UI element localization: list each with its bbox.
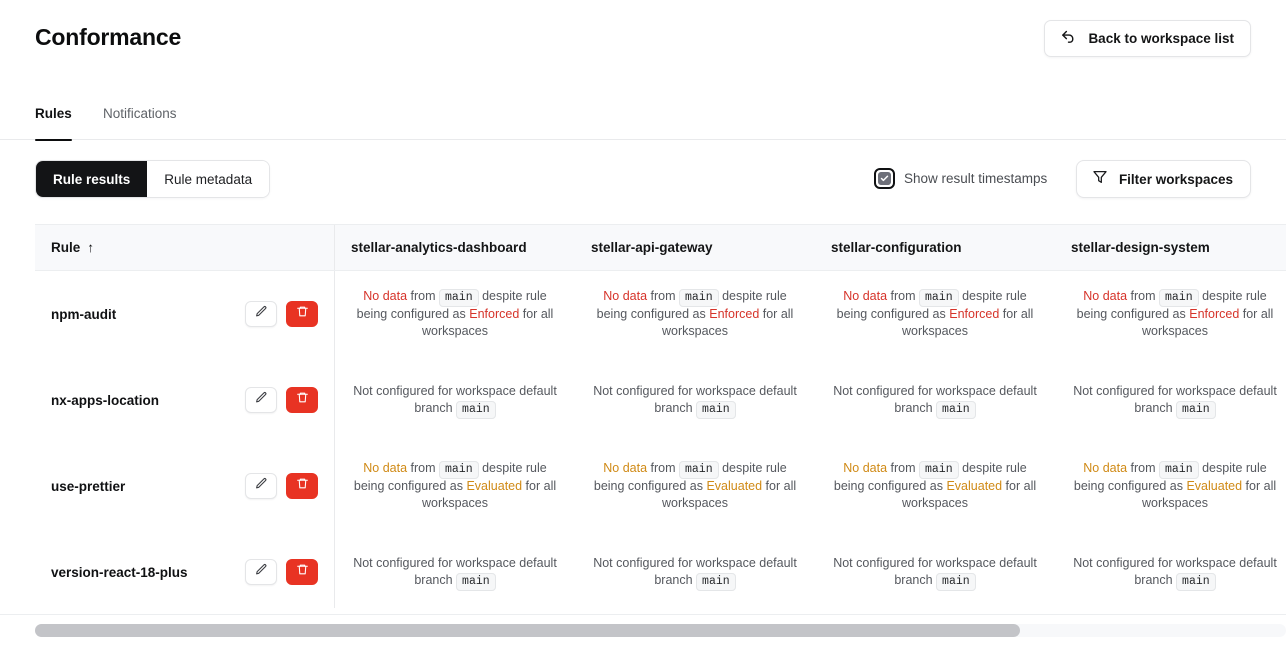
- rule-result-cell: Not configured for workspace default bra…: [575, 357, 815, 443]
- pencil-icon: [255, 305, 268, 323]
- segment-rule-metadata[interactable]: Rule metadata: [147, 161, 269, 197]
- rule-name-cell: npm-audit: [35, 271, 335, 357]
- rule-result-cell: No data from main despite rule being con…: [575, 271, 815, 357]
- table-row: version-react-18-plusNot configured for …: [35, 529, 1286, 608]
- page-title: Conformance: [35, 24, 181, 51]
- rule-result-text: No data from main despite rule being con…: [831, 288, 1039, 340]
- page-header: Conformance Back to workspace list: [0, 0, 1286, 80]
- column-header-workspace[interactable]: stellar-api-gateway: [575, 225, 815, 270]
- tab-rules[interactable]: Rules: [35, 104, 72, 140]
- rule-result-text: Not configured for workspace default bra…: [831, 383, 1039, 418]
- no-data-status: No data: [843, 289, 887, 303]
- rule-result-cell: Not configured for workspace default bra…: [335, 357, 575, 443]
- branch-chip: main: [439, 461, 479, 479]
- branch-chip: main: [439, 289, 479, 307]
- rule-name: npm-audit: [51, 307, 116, 322]
- checkbox-focus-ring: [874, 168, 895, 189]
- edit-rule-button[interactable]: [245, 473, 277, 499]
- trash-icon: [296, 563, 309, 581]
- delete-rule-button[interactable]: [286, 387, 318, 413]
- trash-icon: [296, 391, 309, 409]
- rule-result-cell: No data from main despite rule being con…: [1055, 271, 1286, 357]
- rule-name: version-react-18-plus: [51, 565, 188, 580]
- column-header-workspace-label: stellar-analytics-dashboard: [351, 240, 527, 255]
- rule-result-cell: Not configured for workspace default bra…: [1055, 529, 1286, 608]
- rule-result-text: No data from main despite rule being con…: [1071, 288, 1279, 340]
- rule-result-text: Not configured for workspace default bra…: [351, 383, 559, 418]
- branch-chip: main: [696, 573, 736, 591]
- branch-chip: main: [936, 401, 976, 419]
- branch-chip: main: [456, 573, 496, 591]
- tab-rules-label: Rules: [35, 106, 72, 121]
- rule-result-cell: No data from main despite rule being con…: [815, 443, 1055, 529]
- column-header-rule-label: Rule: [51, 240, 80, 255]
- pencil-icon: [255, 563, 268, 581]
- column-header-workspace-label: stellar-design-system: [1071, 240, 1210, 255]
- table-body: npm-auditNo data from main despite rule …: [35, 271, 1286, 608]
- severity-label: Evaluated: [1186, 479, 1242, 493]
- rule-result-text: Not configured for workspace default bra…: [831, 555, 1039, 590]
- rule-result-cell: Not configured for workspace default bra…: [815, 529, 1055, 608]
- no-data-status: No data: [843, 461, 887, 475]
- branch-chip: main: [679, 289, 719, 307]
- rule-result-cell: Not configured for workspace default bra…: [575, 529, 815, 608]
- trash-icon: [296, 305, 309, 323]
- rule-result-text: Not configured for workspace default bra…: [591, 555, 799, 590]
- branch-chip: main: [456, 401, 496, 419]
- back-to-workspace-list-button[interactable]: Back to workspace list: [1044, 20, 1251, 57]
- rule-result-cell: No data from main despite rule being con…: [1055, 443, 1286, 529]
- rules-table-scroll-container[interactable]: Rule ↑ stellar-analytics-dashboard stell…: [35, 224, 1286, 608]
- branch-chip: main: [1176, 573, 1216, 591]
- no-data-status: No data: [363, 289, 407, 303]
- no-data-status: No data: [1083, 289, 1127, 303]
- branch-chip: main: [1176, 401, 1216, 419]
- branch-chip: main: [1159, 289, 1199, 307]
- filter-workspaces-label: Filter workspaces: [1119, 172, 1233, 187]
- rule-result-text: Not configured for workspace default bra…: [591, 383, 799, 418]
- table-row: use-prettierNo data from main despite ru…: [35, 443, 1286, 529]
- tab-notifications-label: Notifications: [103, 106, 177, 121]
- rule-result-text: Not configured for workspace default bra…: [351, 555, 559, 590]
- horizontal-scrollbar-thumb[interactable]: [35, 624, 1020, 637]
- table-toolbar: Rule results Rule metadata Show result t…: [0, 160, 1286, 200]
- tab-bar: Rules Notifications: [0, 104, 1286, 140]
- row-actions: [245, 559, 318, 585]
- table-header-row: Rule ↑ stellar-analytics-dashboard stell…: [35, 224, 1286, 271]
- severity-label: Enforced: [709, 307, 759, 321]
- delete-rule-button[interactable]: [286, 473, 318, 499]
- row-actions: [245, 387, 318, 413]
- sort-ascending-icon: ↑: [87, 240, 94, 255]
- rule-result-cell: No data from main despite rule being con…: [575, 443, 815, 529]
- branch-chip: main: [936, 573, 976, 591]
- rule-result-cell: Not configured for workspace default bra…: [335, 529, 575, 608]
- back-button-label: Back to workspace list: [1088, 31, 1234, 46]
- edit-rule-button[interactable]: [245, 387, 277, 413]
- rule-result-cell: No data from main despite rule being con…: [815, 271, 1055, 357]
- rule-result-text: No data from main despite rule being con…: [591, 288, 799, 340]
- funnel-icon: [1092, 169, 1108, 190]
- rule-result-text: No data from main despite rule being con…: [831, 460, 1039, 512]
- rule-name-cell: nx-apps-location: [35, 357, 335, 443]
- segment-rule-results[interactable]: Rule results: [36, 161, 147, 197]
- rule-name-cell: use-prettier: [35, 443, 335, 529]
- branch-chip: main: [679, 461, 719, 479]
- rule-result-text: No data from main despite rule being con…: [351, 288, 559, 340]
- row-actions: [245, 473, 318, 499]
- rule-result-cell: Not configured for workspace default bra…: [1055, 357, 1286, 443]
- show-result-timestamps-checkbox[interactable]: Show result timestamps: [874, 168, 1047, 189]
- segment-rule-metadata-label: Rule metadata: [164, 172, 252, 187]
- rule-result-text: Not configured for workspace default bra…: [1071, 383, 1279, 418]
- edit-rule-button[interactable]: [245, 559, 277, 585]
- table-row: nx-apps-locationNot configured for works…: [35, 357, 1286, 443]
- edit-rule-button[interactable]: [245, 301, 277, 327]
- horizontal-scrollbar-track[interactable]: [35, 624, 1286, 637]
- delete-rule-button[interactable]: [286, 301, 318, 327]
- show-result-timestamps-label: Show result timestamps: [904, 171, 1047, 186]
- segment-rule-results-label: Rule results: [53, 172, 130, 187]
- rules-table: Rule ↑ stellar-analytics-dashboard stell…: [35, 224, 1286, 608]
- checkbox-checked-icon: [878, 172, 891, 185]
- trash-icon: [296, 477, 309, 495]
- filter-workspaces-button[interactable]: Filter workspaces: [1076, 160, 1251, 198]
- row-actions: [245, 301, 318, 327]
- branch-chip: main: [696, 401, 736, 419]
- rule-result-text: No data from main despite rule being con…: [1071, 460, 1279, 512]
- rule-result-cell: No data from main despite rule being con…: [335, 271, 575, 357]
- view-mode-segmented-control: Rule results Rule metadata: [35, 160, 270, 198]
- severity-label: Enforced: [1189, 307, 1239, 321]
- tab-notifications[interactable]: Notifications: [103, 104, 177, 140]
- no-data-status: No data: [1083, 461, 1127, 475]
- rule-name: use-prettier: [51, 479, 125, 494]
- delete-rule-button[interactable]: [286, 559, 318, 585]
- pencil-icon: [255, 391, 268, 409]
- back-arrow-icon: [1060, 28, 1077, 50]
- no-data-status: No data: [363, 461, 407, 475]
- column-header-rule[interactable]: Rule ↑: [35, 225, 335, 270]
- column-header-workspace-label: stellar-api-gateway: [591, 240, 713, 255]
- column-header-workspace[interactable]: stellar-analytics-dashboard: [335, 225, 575, 270]
- rule-result-text: Not configured for workspace default bra…: [1071, 555, 1279, 590]
- rule-result-cell: Not configured for workspace default bra…: [815, 357, 1055, 443]
- pencil-icon: [255, 477, 268, 495]
- branch-chip: main: [919, 289, 959, 307]
- column-header-workspace-label: stellar-configuration: [831, 240, 962, 255]
- table-row: npm-auditNo data from main despite rule …: [35, 271, 1286, 357]
- severity-label: Evaluated: [706, 479, 762, 493]
- branch-chip: main: [1159, 461, 1199, 479]
- severity-label: Evaluated: [946, 479, 1002, 493]
- no-data-status: No data: [603, 461, 647, 475]
- severity-label: Enforced: [469, 307, 519, 321]
- branch-chip: main: [919, 461, 959, 479]
- rule-result-cell: No data from main despite rule being con…: [335, 443, 575, 529]
- no-data-status: No data: [603, 289, 647, 303]
- rule-result-text: No data from main despite rule being con…: [351, 460, 559, 512]
- conformance-page: Conformance Back to workspace list Rules…: [0, 0, 1286, 667]
- rule-name-cell: version-react-18-plus: [35, 529, 335, 608]
- rule-name: nx-apps-location: [51, 393, 159, 408]
- severity-label: Evaluated: [466, 479, 522, 493]
- page-bottom-divider: [0, 614, 1286, 615]
- column-header-workspace[interactable]: stellar-design-system: [1055, 225, 1286, 270]
- severity-label: Enforced: [949, 307, 999, 321]
- rule-result-text: No data from main despite rule being con…: [591, 460, 799, 512]
- column-header-workspace[interactable]: stellar-configuration: [815, 225, 1055, 270]
